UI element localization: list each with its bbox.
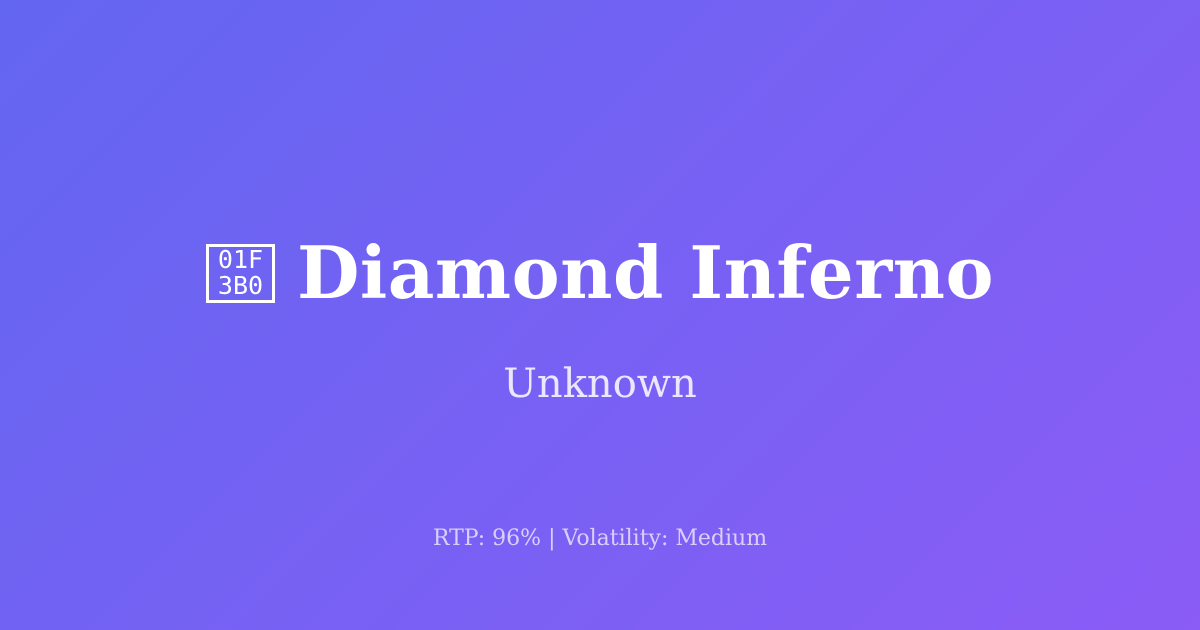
tofu-codepoint-top: 01F — [218, 247, 263, 273]
game-meta-line: RTP: 96% | Volatility: Medium — [0, 528, 1200, 550]
page-title: Diamond Inferno — [297, 237, 994, 309]
title-row: 01F 3B0 Diamond Inferno — [0, 237, 1200, 309]
game-share-card: 01F 3B0 Diamond Inferno Unknown RTP: 96%… — [0, 0, 1200, 630]
provider-label: Unknown — [0, 364, 1200, 404]
slot-machine-icon: 01F 3B0 — [206, 244, 275, 303]
tofu-codepoint-bottom: 3B0 — [218, 273, 263, 299]
